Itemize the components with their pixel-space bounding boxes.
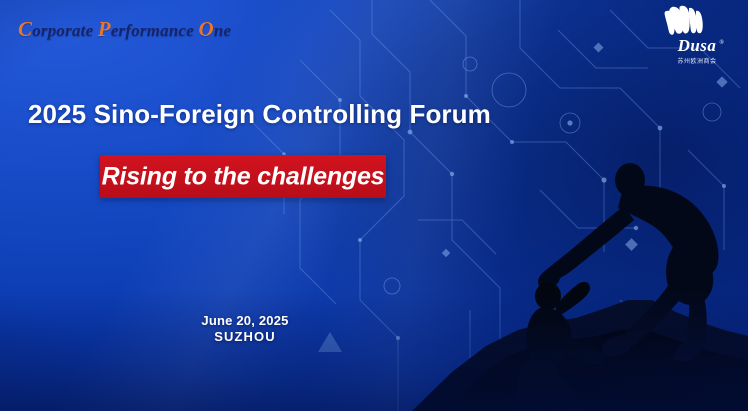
background-bottom-fade bbox=[0, 291, 748, 411]
page-title: 2025 Sino-Foreign Controlling Forum bbox=[28, 99, 491, 130]
subtitle-text: Rising to the challenges bbox=[100, 162, 386, 191]
dusa-chinese-name: 苏州欧洲商会 bbox=[654, 58, 740, 66]
corporate-performance-one-logo: Corporate Performance One bbox=[18, 17, 231, 42]
dusa-wordmark: Dusa® bbox=[678, 37, 717, 54]
logo-word-performance: erformance bbox=[111, 21, 194, 40]
event-date: June 20, 2025 bbox=[160, 313, 330, 329]
forum-title-slide: Corporate Performance One Dusa® 苏州欧洲商会 2… bbox=[0, 0, 748, 411]
logo-cap-c: C bbox=[18, 17, 32, 41]
logo-word-one: ne bbox=[214, 21, 231, 40]
event-city: SUZHOU bbox=[160, 329, 330, 345]
helping-hands-emblem-icon bbox=[654, 4, 714, 36]
dusa-wordmark-text: Dusa bbox=[678, 36, 717, 55]
registered-trademark-icon: ® bbox=[719, 35, 724, 52]
logo-cap-o: O bbox=[198, 17, 213, 41]
subtitle-banner: Rising to the challenges bbox=[100, 155, 386, 198]
logo-word-corporate: orporate bbox=[32, 21, 93, 40]
event-details: June 20, 2025 SUZHOU bbox=[160, 313, 330, 345]
logo-cap-p: P bbox=[98, 17, 111, 41]
dusa-logo: Dusa® 苏州欧洲商会 bbox=[654, 4, 740, 68]
